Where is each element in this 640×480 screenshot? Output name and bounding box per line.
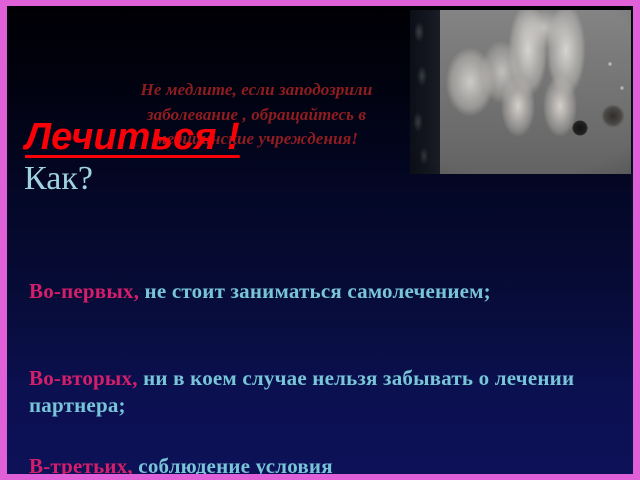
bullet-2-lead-word: Во-вторых,	[29, 366, 138, 390]
bullet-1-text: не стоит заниматься самолечением;	[139, 279, 491, 303]
bullet-3-text: соблюдение условия	[133, 454, 333, 474]
bullet-1-lead-word: Во-первых,	[29, 279, 139, 303]
slide-frame: Не медлите, если заподозрили заболевание…	[0, 0, 640, 480]
bullet-item-2: Во-вторых, ни в коем случае нельзя забыв…	[29, 365, 619, 420]
slide-canvas: Не медлите, если заподозрили заболевание…	[7, 6, 633, 474]
bullet-item-3: В-третьих, соблюдение условия	[29, 453, 619, 474]
bullet-item-1: Во-первых, не стоит заниматься самолечен…	[29, 278, 619, 305]
page-subtitle: Как?	[24, 162, 93, 196]
page-title: Лечиться !	[25, 118, 240, 156]
bullet-3-lead-word: В-третьих,	[29, 454, 133, 474]
photo-vignette-overlay	[410, 10, 631, 174]
illustration-photo	[410, 10, 631, 174]
